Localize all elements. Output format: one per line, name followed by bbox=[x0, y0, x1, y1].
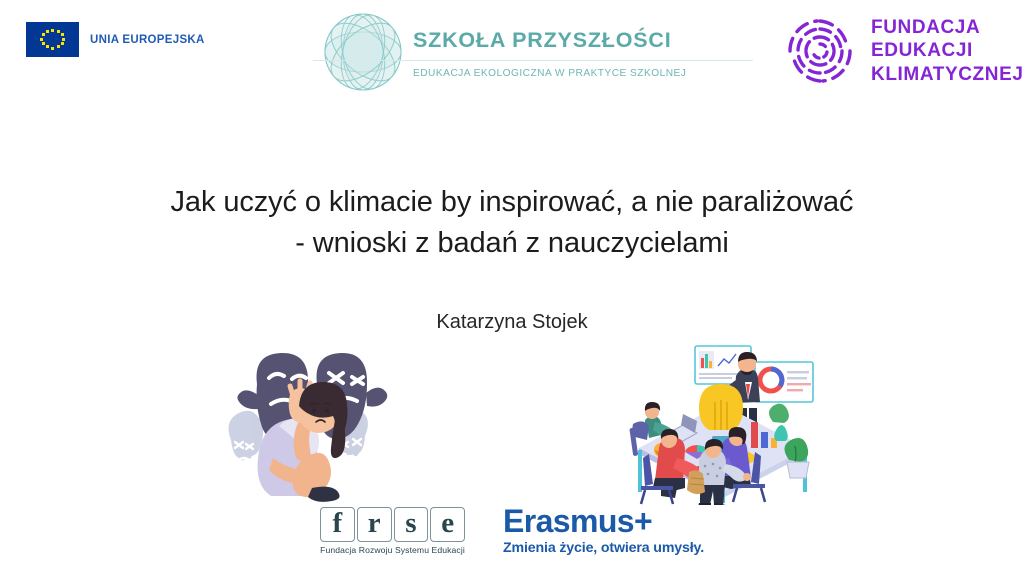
fek-line-2: EDUKACJI bbox=[871, 39, 1024, 63]
page-title: Jak uczyć o klimacie by inspirować, a ni… bbox=[0, 182, 1024, 264]
header-logo-bar: UNIA EUROPEJSKA SZKOŁA PRZYSZŁOŚCI EDUKA… bbox=[0, 0, 1024, 105]
title-line-1: Jak uczyć o klimacie by inspirować, a ni… bbox=[40, 182, 984, 223]
imagery-row bbox=[0, 340, 1024, 505]
frse-letter-e: e bbox=[430, 507, 465, 542]
eu-flag-icon bbox=[26, 22, 79, 57]
fek-text-block: FUNDACJA EDUKACJI KLIMATYCZNEJ bbox=[871, 16, 1024, 87]
eu-logo: UNIA EUROPEJSKA bbox=[26, 22, 205, 57]
erasmus-title: Erasmus+ bbox=[503, 505, 704, 537]
szkola-divider bbox=[313, 60, 753, 61]
szkola-przyszlosci-logo: SZKOŁA PRZYSZŁOŚCI EDUKACJA EKOLOGICZNA … bbox=[322, 11, 753, 93]
frse-letter-s: s bbox=[394, 507, 429, 542]
fundacja-edukacji-klimatycznej-logo: FUNDACJA EDUKACJI KLIMATYCZNEJ bbox=[781, 12, 1024, 90]
frse-letter-r: r bbox=[357, 507, 392, 542]
szkola-subtitle: EDUKACJA EKOLOGICZNA W PRAKTYCE SZKOLNEJ bbox=[413, 68, 753, 79]
globe-sphere-icon bbox=[322, 11, 404, 93]
erasmus-tagline: Zmienia życie, otwiera umysły. bbox=[503, 540, 704, 556]
frse-letter-f: f bbox=[320, 507, 355, 542]
footer-logo-bar: f r s e Fundacja Rozwoju Systemu Edukacj… bbox=[0, 500, 1024, 562]
fek-line-3: KLIMATYCZNEJ bbox=[871, 63, 1024, 87]
title-line-2: - wnioski z badań z nauczycielami bbox=[40, 223, 984, 264]
frse-subtitle: Fundacja Rozwoju Systemu Edukacji bbox=[320, 545, 465, 555]
author-block: Katarzyna Stojek bbox=[0, 311, 1024, 334]
frse-logo-icon: f r s e Fundacja Rozwoju Systemu Edukacj… bbox=[320, 507, 465, 555]
erasmus-plus-logo-icon: Erasmus+ Zmienia życie, otwiera umysły. bbox=[503, 505, 704, 556]
eu-label: UNIA EUROPEJSKA bbox=[90, 34, 205, 46]
szkola-text-block: SZKOŁA PRZYSZŁOŚCI EDUKACJA EKOLOGICZNA … bbox=[413, 25, 753, 79]
szkola-title: SZKOŁA PRZYSZŁOŚCI bbox=[413, 29, 753, 53]
presentation-slide: UNIA EUROPEJSKA SZKOŁA PRZYSZŁOŚCI EDUKA… bbox=[0, 0, 1024, 576]
spiral-swirl-icon bbox=[781, 12, 859, 90]
author-name: Katarzyna Stojek bbox=[0, 311, 1024, 334]
fek-line-1: FUNDACJA bbox=[871, 16, 1024, 40]
slide-title-block: Jak uczyć o klimacie by inspirować, a ni… bbox=[0, 182, 1024, 264]
frse-letter-marks: f r s e bbox=[320, 507, 465, 542]
collaboration-illustration bbox=[625, 340, 820, 505]
anxiety-illustration bbox=[213, 348, 388, 503]
